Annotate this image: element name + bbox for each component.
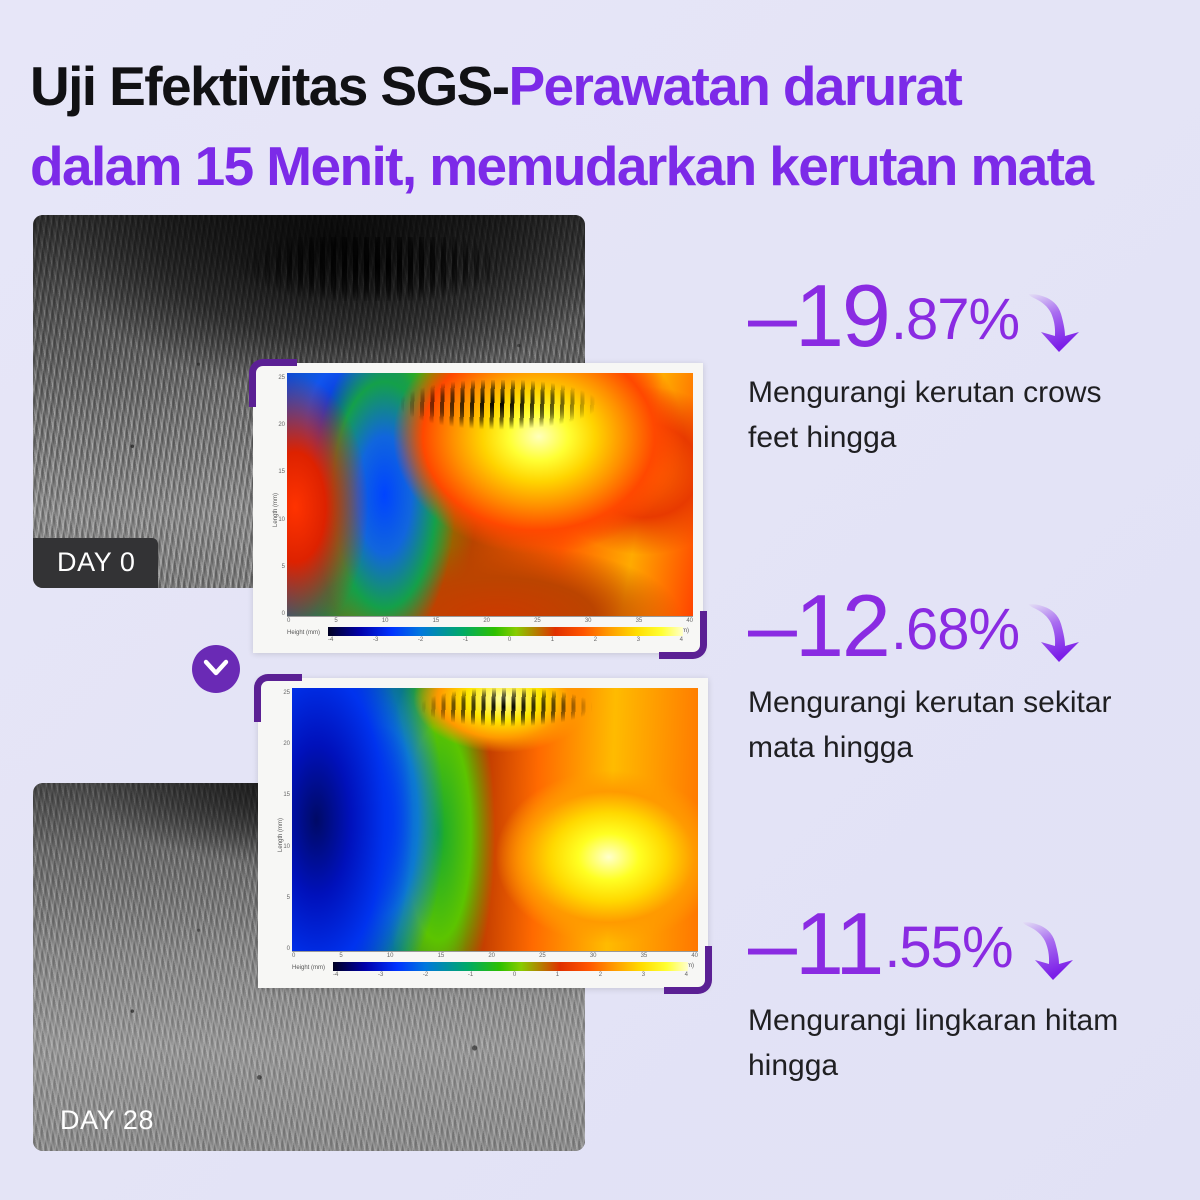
heatmap-chart-day-0: Length (mm) 25 20 15 10 5 0 0 5 10 15 20… xyxy=(253,363,703,653)
x-tick: 0 xyxy=(287,618,290,625)
x-tick: 20 xyxy=(483,618,490,625)
corner-bracket-top-left-1 xyxy=(254,674,302,722)
day-label-28: DAY 28 xyxy=(33,1096,176,1151)
y-tick: 20 xyxy=(278,422,285,428)
cbar-tick: -2 xyxy=(418,637,423,643)
y-tick: 15 xyxy=(278,469,285,475)
x-tick: 10 xyxy=(387,953,394,960)
stat-value-row-1: – 12 .68% xyxy=(748,582,1200,674)
y-tick: 10 xyxy=(283,844,290,850)
cbar-tick: 2 xyxy=(594,637,597,643)
y-tick: 15 xyxy=(283,792,290,798)
x-tick: 25 xyxy=(539,953,546,960)
y-tick: 20 xyxy=(283,741,290,747)
cbar-tick: 3 xyxy=(637,637,640,643)
corner-bracket-bottom-right-1 xyxy=(664,946,712,994)
stat-value-row-0: – 19 .87% xyxy=(748,272,1200,364)
y-tick: 5 xyxy=(287,895,290,901)
day-label-0: DAY 0 xyxy=(33,538,158,588)
corner-bracket-bottom-right-0 xyxy=(659,611,707,659)
colorbar-ticks-1: -4 -3 -2 -1 0 1 2 3 4 xyxy=(333,971,688,978)
colorbar-0: Height (mm) -4 -3 -2 -1 0 1 2 3 4 xyxy=(287,627,683,649)
x-tick: 30 xyxy=(590,953,597,960)
stat-block-eye-wrinkles: – 12 .68% Mengurangi kerutan sekitar mat… xyxy=(748,582,1200,770)
cbar-tick: -1 xyxy=(468,972,473,978)
x-axis-ticks-1: 0 5 10 15 20 25 30 35 40 xyxy=(292,951,698,960)
cbar-tick: 1 xyxy=(551,637,554,643)
down-arrow-icon xyxy=(1019,916,1081,987)
x-tick: 20 xyxy=(488,953,495,960)
x-tick: 35 xyxy=(641,953,648,960)
stat-decimal-0: .87% xyxy=(891,276,1019,364)
cbar-tick: 0 xyxy=(513,972,516,978)
stat-sign-0: – xyxy=(748,272,795,360)
stat-block-crows-feet: – 19 .87% Mengurangi kerutan crows feet … xyxy=(748,272,1200,460)
y-tick: 10 xyxy=(278,517,285,523)
stat-caption-2: Mengurangi lingkaran hitam hingga xyxy=(748,998,1148,1088)
colorbar-1: Height (mm) -4 -3 -2 -1 0 1 2 3 4 xyxy=(292,962,688,984)
stat-decimal-2: .55% xyxy=(884,904,1012,992)
x-tick: 0 xyxy=(292,953,295,960)
colorbar-ticks-0: -4 -3 -2 -1 0 1 2 3 4 xyxy=(328,636,683,643)
heatmap-chart-day-28: Length (mm) 25 20 15 10 5 0 0 5 10 15 20… xyxy=(258,678,708,988)
y-tick: 0 xyxy=(282,611,285,617)
cbar-tick: -3 xyxy=(378,972,383,978)
cbar-tick: 1 xyxy=(556,972,559,978)
stat-decimal-1: .68% xyxy=(891,586,1019,674)
stat-sign-1: – xyxy=(748,582,795,670)
cbar-tick: -3 xyxy=(373,637,378,643)
eyelash-overlay xyxy=(422,688,593,730)
stat-integer-0: 19 xyxy=(795,272,889,360)
colorbar-label-0: Height (mm) xyxy=(287,627,320,636)
eyelash-detail xyxy=(243,237,497,300)
x-tick: 5 xyxy=(334,618,337,625)
corner-bracket-top-left-0 xyxy=(249,359,297,407)
y-tick: 5 xyxy=(282,564,285,570)
stat-caption-0: Mengurangi kerutan crows feet hingga xyxy=(748,370,1148,460)
y-tick: 0 xyxy=(287,946,290,952)
x-tick: 35 xyxy=(636,618,643,625)
cbar-tick: 2 xyxy=(599,972,602,978)
cbar-tick: 3 xyxy=(642,972,645,978)
x-tick: 5 xyxy=(339,953,342,960)
heatmap-plot-area-0 xyxy=(287,373,693,617)
chevron-down-icon xyxy=(192,645,240,693)
x-tick: 30 xyxy=(585,618,592,625)
down-arrow-icon xyxy=(1025,598,1087,669)
stat-caption-1: Mengurangi kerutan sekitar mata hingga xyxy=(748,680,1148,770)
x-tick: 10 xyxy=(382,618,389,625)
x-axis-ticks-0: 0 5 10 15 20 25 30 35 40 xyxy=(287,616,693,625)
stats-panel: – 19 .87% Mengurangi kerutan crows feet … xyxy=(748,0,1200,1200)
x-tick: 15 xyxy=(433,618,440,625)
stat-integer-1: 12 xyxy=(795,582,889,670)
eyelash-overlay xyxy=(401,380,596,434)
cbar-tick: 0 xyxy=(508,637,511,643)
y-axis-ticks-0: 25 20 15 10 5 0 xyxy=(271,375,285,617)
colorbar-label-1: Height (mm) xyxy=(292,962,325,971)
colorbar-strip xyxy=(328,627,683,636)
colorbar-strip xyxy=(333,962,688,971)
down-arrow-icon xyxy=(1025,288,1087,359)
cbar-tick: -4 xyxy=(333,972,338,978)
stat-sign-2: – xyxy=(748,900,795,988)
cbar-tick: -2 xyxy=(423,972,428,978)
heatmap-plot-area-1 xyxy=(292,688,698,952)
stat-integer-2: 11 xyxy=(795,900,882,988)
x-tick: 25 xyxy=(534,618,541,625)
before-after-panel: DAY 0 DAY 28 Length (mm) 25 20 15 10 5 xyxy=(0,0,720,1200)
cbar-tick: -1 xyxy=(463,637,468,643)
stat-value-row-2: – 11 .55% xyxy=(748,900,1200,992)
x-tick: 15 xyxy=(438,953,445,960)
cbar-tick: -4 xyxy=(328,637,333,643)
stat-block-dark-circles: – 11 .55% Mengurangi lingkaran hitam hin… xyxy=(748,900,1200,1088)
y-axis-ticks-1: 25 20 15 10 5 0 xyxy=(276,690,290,952)
